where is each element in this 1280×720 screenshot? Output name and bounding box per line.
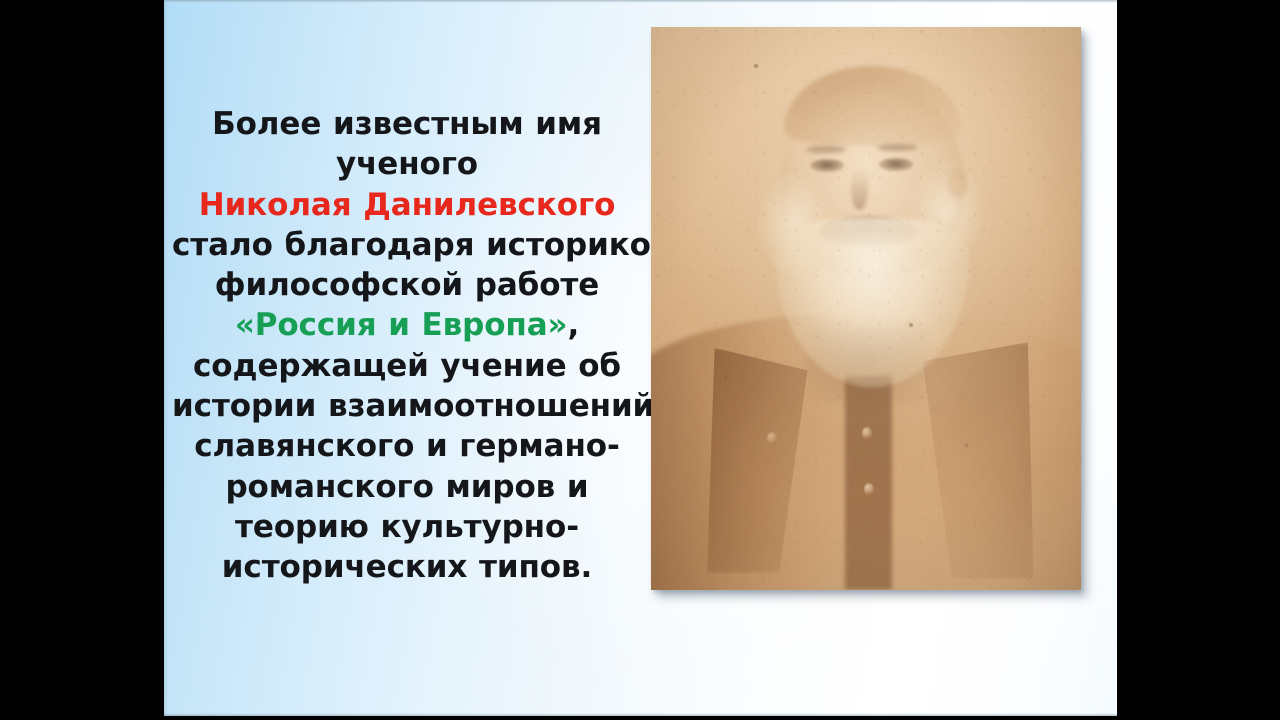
text-line-7: содержащей учение об: [172, 346, 642, 386]
photo-blemish: [909, 323, 913, 327]
text-line-1: Более известным имя: [172, 104, 642, 144]
text-line-2: ученого: [172, 144, 642, 184]
jacket-button: [862, 427, 872, 440]
slide-body-text: Более известным имя ученого Николая Дани…: [172, 104, 642, 588]
figure-hair: [784, 66, 960, 145]
figure-ear: [948, 168, 968, 198]
video-frame: Более известным имя ученого Николая Дани…: [0, 0, 1280, 720]
work-title-comma: ,: [568, 307, 580, 343]
work-title: «Россия и Европа»: [235, 307, 568, 343]
text-line-12: исторических типов.: [172, 547, 642, 587]
photo-blemish: [754, 64, 758, 68]
presentation-slide: Более известным имя ученого Николая Дани…: [164, 0, 1117, 716]
figure-nose: [851, 168, 868, 210]
portrait-photo: [651, 27, 1081, 590]
text-line-8: истории взаимоотношений: [172, 386, 642, 426]
figure-eye: [879, 158, 913, 171]
text-line-work: «Россия и Европа»,: [172, 305, 642, 345]
text-line-5: философской работе: [172, 265, 642, 305]
figure-eyebrow: [877, 144, 917, 151]
slide-bottom-border: [164, 713, 1117, 716]
text-line-9: славянского и германо-: [172, 426, 642, 466]
slide-top-border: [164, 0, 1117, 3]
text-line-4: стало благодаря историко-: [172, 225, 642, 265]
photo-blemish: [965, 444, 968, 447]
jacket-button: [864, 483, 874, 496]
portrait-figure: [651, 27, 1081, 590]
text-line-11: теорию культурно-: [172, 507, 642, 547]
photo-surface: [651, 27, 1081, 590]
text-line-person: Николая Данилевского: [172, 185, 642, 225]
text-line-10: романского миров и: [172, 467, 642, 507]
slide-left-border: [164, 0, 168, 716]
